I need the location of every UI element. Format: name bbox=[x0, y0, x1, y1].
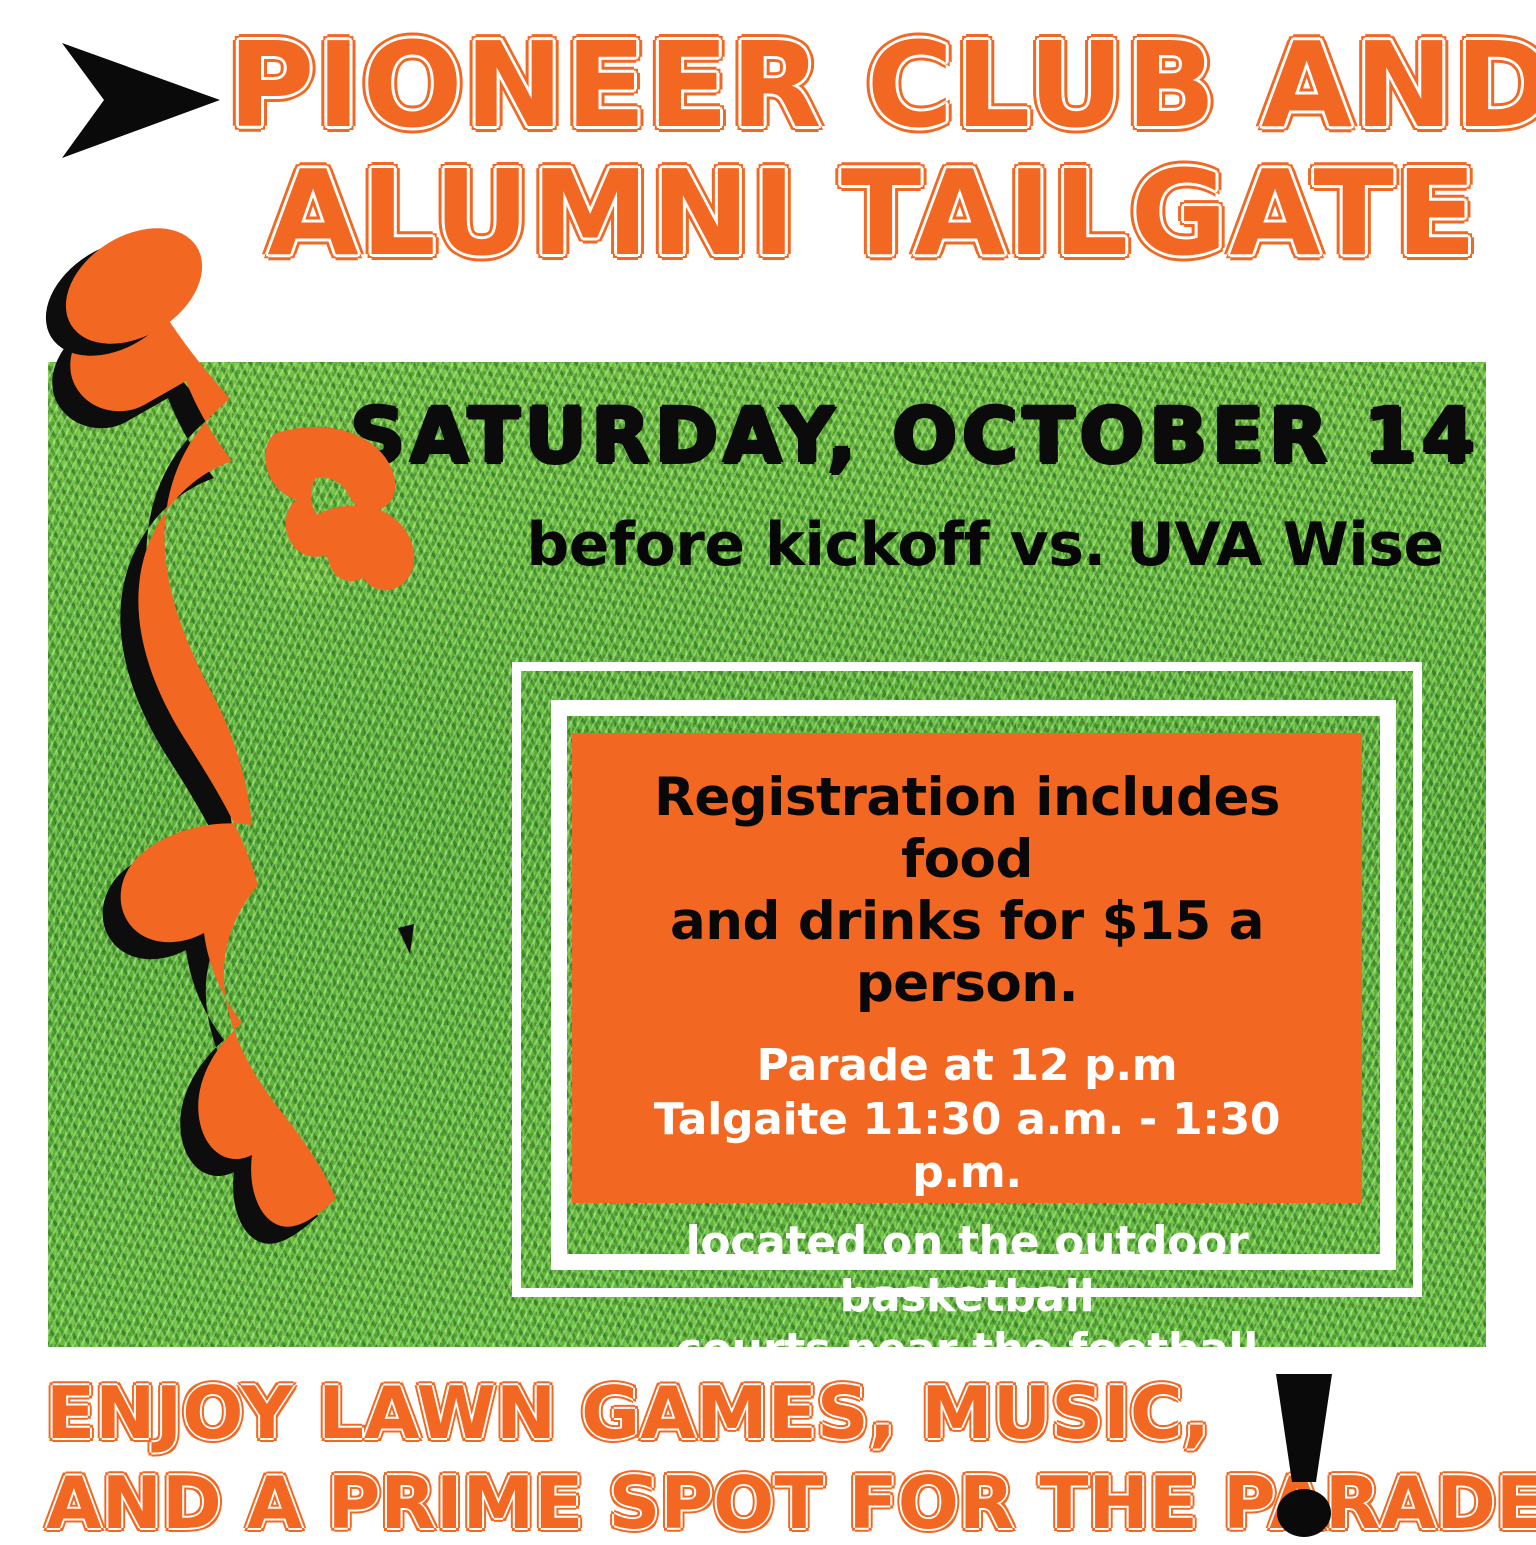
registration-headline-line-1: Registration includes food bbox=[594, 767, 1340, 891]
exclamation-mark-icon bbox=[1258, 1370, 1350, 1538]
tailgate-time: Talgaite 11:30 a.m. - 1:30 p.m. bbox=[594, 1093, 1340, 1200]
event-kickoff: before kickoff vs. UVA Wise bbox=[480, 515, 1490, 575]
bottom-banner-line-1: ENJOY LAWN GAMES, MUSIC, bbox=[46, 1376, 1316, 1450]
parade-time: Parade at 12 p.m bbox=[594, 1039, 1340, 1093]
registration-headline: Registration includes food and drinks fo… bbox=[594, 767, 1340, 1015]
flyer-canvas: PIONEER CLUB AND ALUMNI TAILGATE SATURDA… bbox=[0, 0, 1536, 1536]
registration-info-card: Registration includes food and drinks fo… bbox=[572, 733, 1362, 1203]
arrow-right-icon bbox=[42, 38, 222, 163]
bottom-banner: ENJOY LAWN GAMES, MUSIC, AND A PRIME SPO… bbox=[46, 1376, 1316, 1540]
event-date: SATURDAY, OCTOBER 14 bbox=[350, 398, 1480, 474]
location-line-1: located on the outdoor basketball bbox=[594, 1216, 1340, 1323]
page-title: PIONEER CLUB AND ALUMNI TAILGATE bbox=[228, 28, 1518, 271]
bottom-banner-line-2: AND A PRIME SPOT FOR THE PARADE bbox=[46, 1466, 1316, 1540]
headline-line-2: ALUMNI TAILGATE bbox=[228, 156, 1518, 272]
registration-headline-line-2: and drinks for $15 a person. bbox=[594, 891, 1340, 1015]
headline-line-1: PIONEER CLUB AND bbox=[228, 28, 1518, 144]
